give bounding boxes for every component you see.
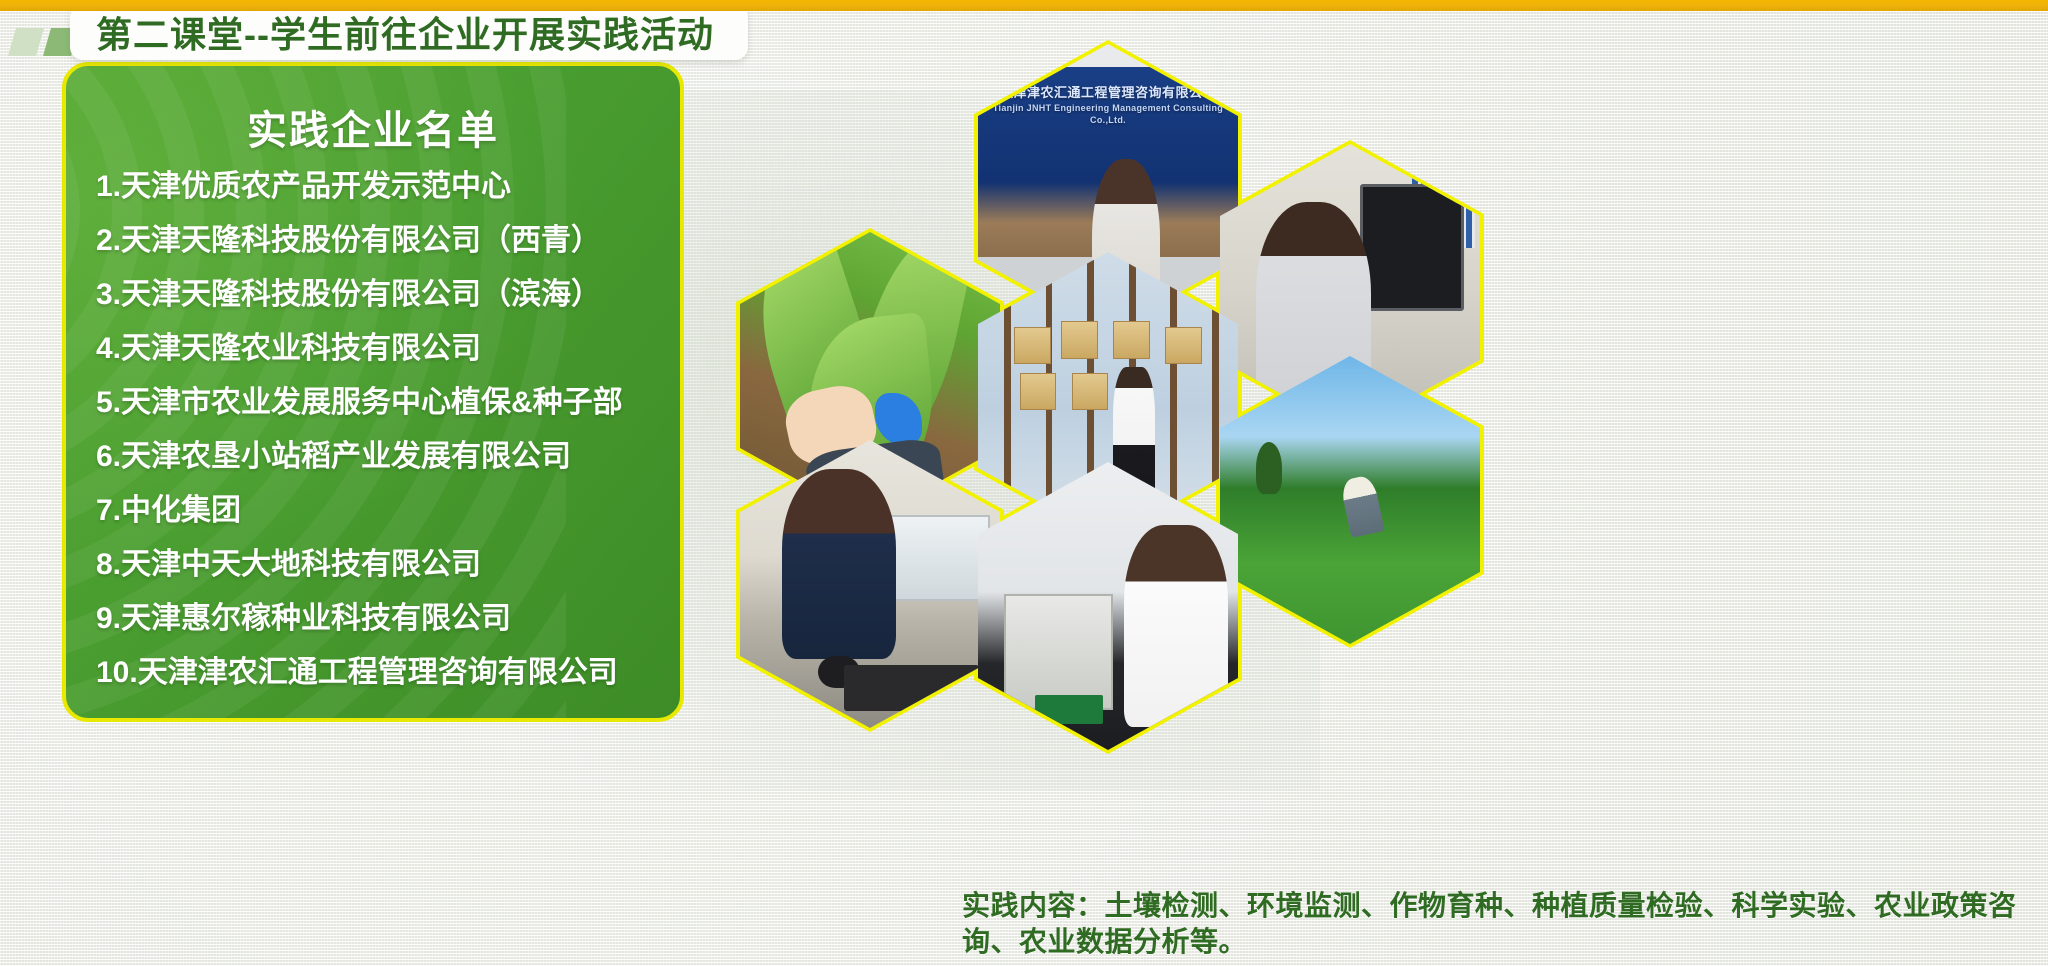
award-plaque [1020,373,1056,410]
balance-display [1035,695,1103,724]
award-plaque [1014,327,1050,364]
photo-hex-rice-paddy [1216,352,1484,648]
award-plaque [1165,327,1201,364]
banner-caption-en: Tianjin JNHT Engineering Management Cons… [984,102,1232,126]
precision-balance [1004,594,1113,709]
award-plaque [1072,373,1108,410]
page-title: 第二课堂--学生前往企业开展实践活动 [96,6,714,58]
list-item: 8.天津中天大地科技有限公司 [96,550,658,580]
top-accent-rule [0,0,2048,11]
list-item: 4.天津天隆农业科技有限公司 [96,334,658,364]
list-item: 10.天津津农汇通工程管理咨询有限公司 [96,658,658,688]
list-item: 3.天津天隆科技股份有限公司（滨海） [96,280,658,310]
person-figure [782,469,896,659]
award-plaque [1113,321,1149,358]
list-item: 6.天津农垦小站稻产业发展有限公司 [96,442,658,472]
banner-caption-cn: 天津津农汇通工程管理咨询有限公司 [1000,85,1216,100]
list-item: 5.天津市农业发展服务中心植保&种子部 [96,388,658,418]
deco-mark-1 [8,28,44,56]
slide-title-plate: 第二课堂--学生前往企业开展实践活动 [70,4,748,60]
hex-photo [1220,356,1480,644]
person-figure [1339,474,1384,537]
hexagon-photo-collage: 天津津农汇通工程管理咨询有限公司 Tianjin JNHT Engineerin… [716,40,1516,890]
award-plaque [1061,321,1097,358]
window [880,515,989,601]
panel-title: 实践企业名单 [88,98,658,156]
hex-photo [740,440,1000,728]
list-item: 1.天津优质农产品开发示范中心 [96,172,658,202]
list-item: 2.天津天隆科技股份有限公司（西青） [96,226,658,256]
photo-lab-balance [978,462,1238,750]
monitor [1360,184,1464,311]
photo-rice-paddy [1220,356,1480,644]
tree [1256,442,1282,494]
practice-content-caption: 实践内容：土壤检测、环境监测、作物育种、种植质量检验、科学实验、农业政策咨询、农… [962,888,2042,960]
keyboard [844,665,979,711]
hex-photo [978,462,1238,750]
person-figure [1124,525,1228,727]
photo-lab-notebook [740,440,1000,728]
list-item: 9.天津惠尔稼种业科技有限公司 [96,604,658,634]
company-list: 1.天津优质农产品开发示范中心 2.天津天隆科技股份有限公司（西青） 3.天津天… [88,172,658,688]
photo-hex-lab-notebook [736,436,1004,732]
practice-companies-panel: 实践企业名单 1.天津优质农产品开发示范中心 2.天津天隆科技股份有限公司（西青… [62,62,684,722]
window-mullion [1170,252,1177,540]
list-item: 7.中化集团 [96,496,658,526]
photo-hex-lab-balance [974,458,1242,754]
